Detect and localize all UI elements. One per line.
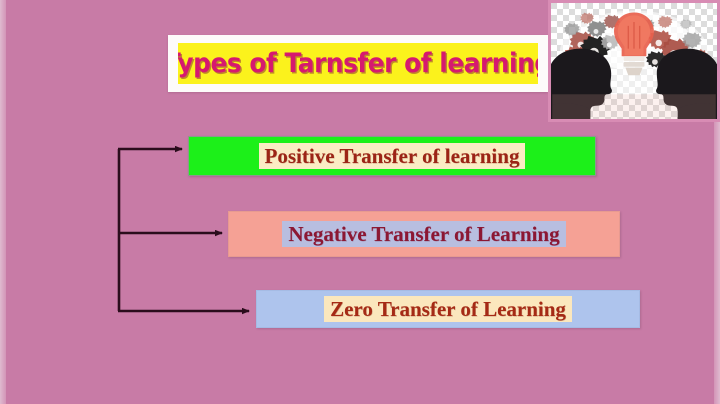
clipart-svg [551, 3, 717, 119]
title-highlight-band: Types of Tarnsfer of learning [178, 43, 538, 84]
clipart-inner [551, 3, 717, 119]
slide-canvas: Types of Tarnsfer of learning [0, 0, 720, 404]
left-edge-strip [0, 0, 6, 404]
node-label-zero: Zero Transfer of Learning [324, 296, 572, 322]
node-box-negative[interactable]: Negative Transfer of Learning [228, 211, 620, 257]
node-box-zero[interactable]: Zero Transfer of Learning [256, 290, 640, 328]
node-box-positive[interactable]: Positive Transfer of learning [188, 136, 596, 176]
node-label-negative: Negative Transfer of Learning [282, 221, 565, 247]
two-heads-gears-lightbulb-icon [548, 0, 720, 122]
page-title: Types of Tarnsfer of learning [178, 50, 538, 77]
title-frame: Types of Tarnsfer of learning [168, 35, 548, 92]
node-label-positive: Positive Transfer of learning [259, 143, 526, 169]
